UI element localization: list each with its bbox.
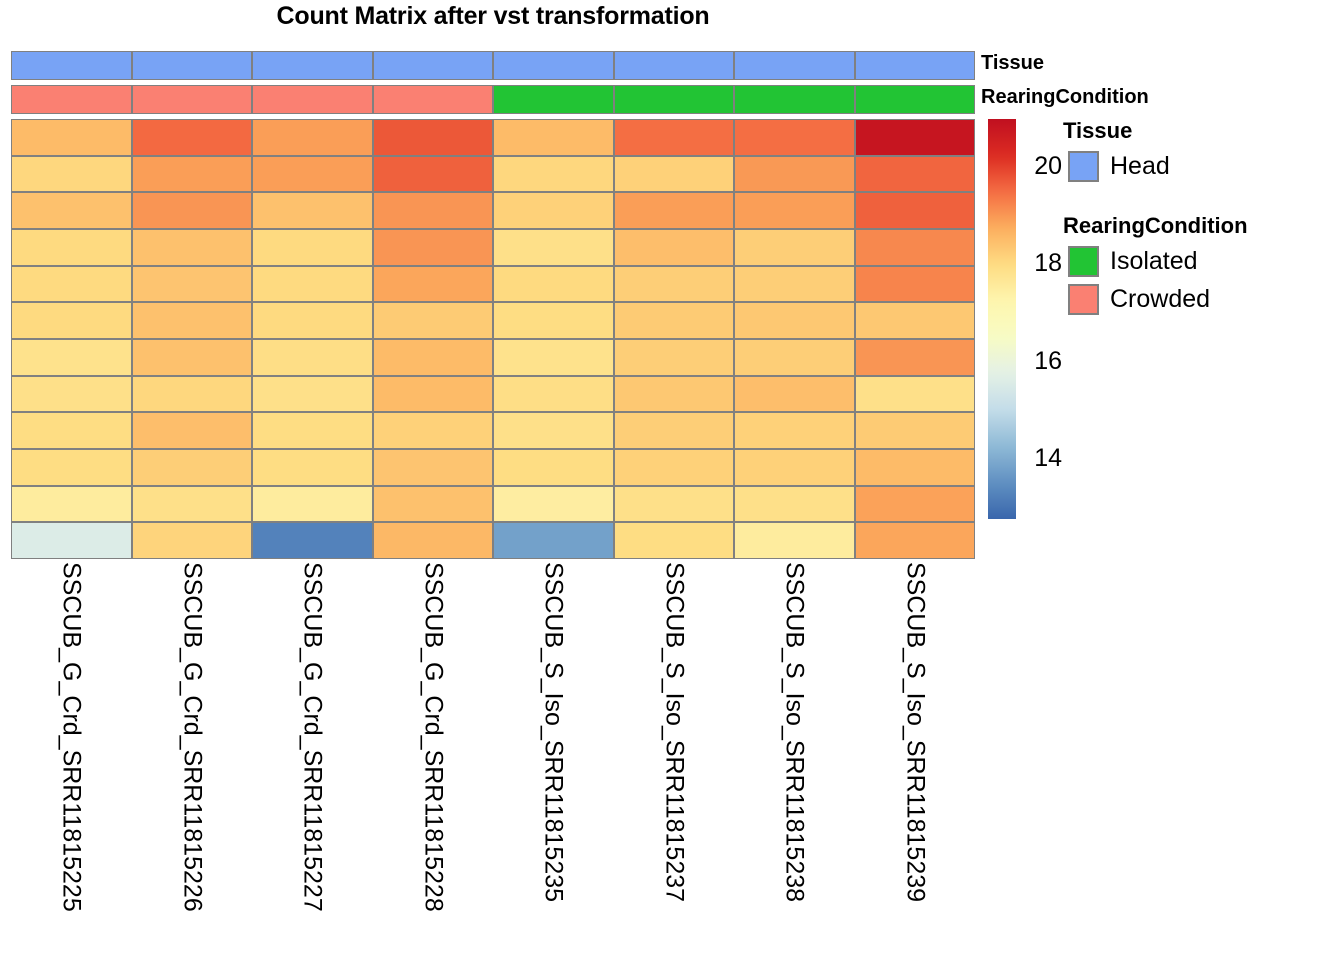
heatmap-cell	[734, 339, 855, 376]
heatmap-cell	[734, 156, 855, 193]
column-label: SSCUB_S_Iso_SRR11815238	[780, 562, 809, 902]
heatmap-cell	[855, 412, 976, 449]
heatmap-cell	[11, 486, 132, 523]
heatmap-cell	[132, 412, 253, 449]
annotation-cell-rearing	[252, 85, 373, 114]
heatmap-grid	[11, 119, 975, 559]
legend-label-head: Head	[1110, 152, 1170, 181]
heatmap-cell	[11, 339, 132, 376]
column-label-slot: SSCUB_G_Crd_SRR11815228	[373, 562, 494, 958]
heatmap-cell	[132, 376, 253, 413]
heatmap-cell	[252, 486, 373, 523]
heatmap-cell	[132, 302, 253, 339]
annotation-cell-tissue	[252, 51, 373, 80]
column-label: SSCUB_G_Crd_SRR11815226	[177, 562, 206, 912]
heatmap-cell	[252, 229, 373, 266]
heatmap-cell	[734, 302, 855, 339]
annotation-cell-tissue	[855, 51, 976, 80]
page-title: Count Matrix after vst transformation	[11, 2, 975, 31]
heatmap-cell	[252, 376, 373, 413]
heatmap-cell	[132, 229, 253, 266]
heatmap-row	[11, 522, 975, 559]
annotation-cell-rearing	[614, 85, 735, 114]
legend-label-crowded: Crowded	[1110, 285, 1210, 314]
heatmap-cell	[855, 376, 976, 413]
heatmap-cell	[493, 339, 614, 376]
heatmap-cell	[11, 229, 132, 266]
annotation-cell-tissue	[373, 51, 494, 80]
column-label-slot: SSCUB_G_Crd_SRR11815226	[132, 562, 253, 958]
heatmap-cell	[855, 449, 976, 486]
colorbar-tick-label: 18	[1018, 249, 1062, 278]
heatmap-cell	[132, 522, 253, 559]
heatmap-cell	[493, 412, 614, 449]
heatmap-cell	[373, 522, 494, 559]
legend-key-crowded[interactable]	[1068, 284, 1099, 315]
heatmap-cell	[734, 522, 855, 559]
heatmap-cell	[132, 192, 253, 229]
heatmap-cell	[132, 266, 253, 303]
heatmap-cell	[373, 302, 494, 339]
heatmap-row	[11, 302, 975, 339]
heatmap-cell	[11, 376, 132, 413]
heatmap-cell	[734, 119, 855, 156]
heatmap-cell	[855, 339, 976, 376]
heatmap-cell	[614, 376, 735, 413]
heatmap-cell	[493, 376, 614, 413]
heatmap-row	[11, 376, 975, 413]
annotation-cell-rearing	[132, 85, 253, 114]
heatmap-cell	[493, 522, 614, 559]
heatmap-cell	[373, 412, 494, 449]
heatmap-cell	[11, 192, 132, 229]
heatmap-cell	[11, 156, 132, 193]
heatmap-row	[11, 266, 975, 303]
heatmap-cell	[11, 522, 132, 559]
heatmap-cell	[11, 412, 132, 449]
annotation-cell-rearing	[493, 85, 614, 114]
heatmap-cell	[252, 339, 373, 376]
column-label: SSCUB_G_Crd_SRR11815227	[298, 562, 327, 912]
heatmap-cell	[493, 266, 614, 303]
heatmap-row	[11, 449, 975, 486]
colorbar-tick-label: 14	[1018, 444, 1062, 473]
heatmap-cell	[11, 266, 132, 303]
heatmap-cell	[252, 412, 373, 449]
heatmap-cell	[252, 449, 373, 486]
heatmap-cell	[614, 486, 735, 523]
heatmap-cell	[373, 486, 494, 523]
heatmap-cell	[252, 192, 373, 229]
heatmap-cell	[614, 302, 735, 339]
heatmap-cell	[493, 192, 614, 229]
legend-title-rearingcondition: RearingCondition	[1063, 213, 1248, 239]
heatmap-cell	[373, 229, 494, 266]
annotation-label-tissue: Tissue	[981, 52, 1044, 75]
legend-title-tissue: Tissue	[1063, 118, 1132, 144]
heatmap-cell	[855, 266, 976, 303]
heatmap-cell	[373, 376, 494, 413]
heatmap-cell	[493, 156, 614, 193]
column-label-slot: SSCUB_S_Iso_SRR11815238	[734, 562, 855, 958]
column-label: SSCUB_S_Iso_SRR11815237	[659, 562, 688, 902]
heatmap-cell	[493, 229, 614, 266]
column-label-slot: SSCUB_G_Crd_SRR11815227	[252, 562, 373, 958]
heatmap-cell	[493, 119, 614, 156]
heatmap-row	[11, 339, 975, 376]
heatmap-cell	[132, 119, 253, 156]
heatmap-cell	[734, 266, 855, 303]
heatmap-cell	[614, 119, 735, 156]
heatmap-row	[11, 192, 975, 229]
colorbar-tick-label: 20	[1018, 152, 1062, 181]
heatmap-cell	[11, 119, 132, 156]
heatmap-cell	[11, 302, 132, 339]
annotation-bar-rearing	[11, 85, 975, 114]
column-label-slot: SSCUB_S_Iso_SRR11815237	[614, 562, 735, 958]
column-label: SSCUB_G_Crd_SRR11815228	[418, 562, 447, 912]
column-label: SSCUB_G_Crd_SRR11815225	[57, 562, 86, 912]
annotation-label-rearing: RearingCondition	[981, 86, 1149, 109]
heatmap-cell	[132, 156, 253, 193]
heatmap-row	[11, 156, 975, 193]
column-axis-labels: SSCUB_G_Crd_SRR11815225SSCUB_G_Crd_SRR11…	[11, 562, 975, 958]
heatmap-cell	[252, 302, 373, 339]
heatmap-row	[11, 119, 975, 156]
heatmap-cell	[614, 192, 735, 229]
annotation-cell-rearing	[734, 85, 855, 114]
annotation-bar-tissue	[11, 51, 975, 80]
heatmap-row	[11, 229, 975, 266]
heatmap-cell	[373, 119, 494, 156]
heatmap-cell	[614, 229, 735, 266]
heatmap-cell	[855, 302, 976, 339]
heatmap-cell	[132, 486, 253, 523]
annotation-cell-tissue	[11, 51, 132, 80]
heatmap-cell	[493, 449, 614, 486]
heatmap-cell	[855, 229, 976, 266]
heatmap-cell	[373, 449, 494, 486]
heatmap-cell	[11, 449, 132, 486]
heatmap-cell	[373, 192, 494, 229]
heatmap-cell	[373, 156, 494, 193]
heatmap-cell	[614, 266, 735, 303]
heatmap-cell	[614, 339, 735, 376]
heatmap-cell	[614, 412, 735, 449]
column-label-slot: SSCUB_S_Iso_SRR11815239	[855, 562, 976, 958]
legend-key-isolated[interactable]	[1068, 246, 1099, 277]
heatmap-cell	[855, 486, 976, 523]
heatmap-cell	[734, 412, 855, 449]
heatmap-cell	[734, 449, 855, 486]
annotation-cell-tissue	[734, 51, 855, 80]
colorbar	[988, 119, 1016, 519]
heatmap-cell	[373, 339, 494, 376]
heatmap-cell	[252, 119, 373, 156]
annotation-cell-tissue	[132, 51, 253, 80]
heatmap-cell	[734, 229, 855, 266]
annotation-cell-tissue	[614, 51, 735, 80]
legend-key-head[interactable]	[1068, 151, 1099, 182]
column-label: SSCUB_S_Iso_SRR11815235	[539, 562, 568, 902]
colorbar-tick-label: 16	[1018, 347, 1062, 376]
column-label-slot: SSCUB_S_Iso_SRR11815235	[493, 562, 614, 958]
heatmap-cell	[252, 522, 373, 559]
heatmap-cell	[614, 156, 735, 193]
heatmap-cell	[132, 339, 253, 376]
heatmap-cell	[855, 156, 976, 193]
heatmap-cell	[734, 376, 855, 413]
heatmap-cell	[493, 486, 614, 523]
heatmap-cell	[734, 486, 855, 523]
annotation-cell-rearing	[373, 85, 494, 114]
heatmap-cell	[493, 302, 614, 339]
legend-label-isolated: Isolated	[1110, 247, 1198, 276]
column-label: SSCUB_S_Iso_SRR11815239	[900, 562, 929, 902]
heatmap-cell	[734, 192, 855, 229]
heatmap-cell	[373, 266, 494, 303]
annotation-cell-tissue	[493, 51, 614, 80]
heatmap-cell	[252, 266, 373, 303]
heatmap-cell	[855, 522, 976, 559]
heatmap-row	[11, 412, 975, 449]
heatmap-row	[11, 486, 975, 523]
heatmap-cell	[855, 119, 976, 156]
annotation-cell-rearing	[855, 85, 976, 114]
heatmap-figure: Count Matrix after vst transformation Ti…	[0, 0, 1344, 960]
heatmap-cell	[855, 192, 976, 229]
heatmap-cell	[132, 449, 253, 486]
annotation-cell-rearing	[11, 85, 132, 114]
heatmap-cell	[614, 449, 735, 486]
heatmap-cell	[614, 522, 735, 559]
column-label-slot: SSCUB_G_Crd_SRR11815225	[11, 562, 132, 958]
heatmap-cell	[252, 156, 373, 193]
